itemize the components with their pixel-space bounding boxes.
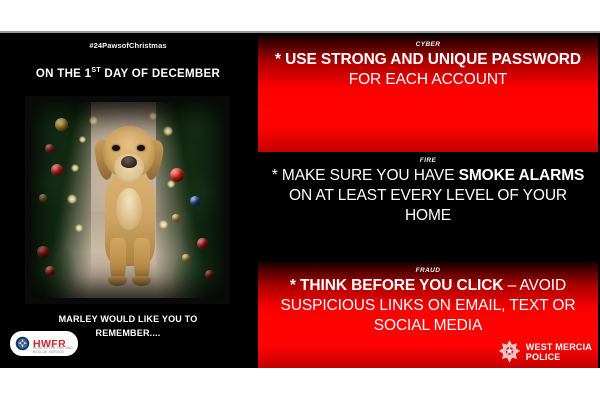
dog-chest [116,188,142,230]
tip-kicker-cyber: CYBER [262,36,594,48]
tip-fire-line1-bold: SMOKE ALARMS [459,167,585,184]
tip-cyber-line1: * USE STRONG AND UNIQUE PASSWORD [275,51,581,68]
tip-cyber-line2: FOR EACH ACCOUNT [349,71,508,88]
day-line-prefix: ON THE 1 [36,68,91,80]
tip-fire-line2: ON AT LEAST EVERY LEVEL OF YOUR HOME [289,187,567,224]
police-logo-line-2: POLICE [526,352,592,362]
tip-fraud-line1-b: – AVOID [503,277,566,294]
police-logo-text: WEST MERCIA POLICE [526,342,592,362]
fairy-light-icon [71,164,79,172]
left-panel: #24PawsofChristmas ON THE 1ST DAY OF DEC… [0,33,256,368]
police-crest-icon [497,339,522,364]
bauble-icon [51,164,63,176]
day-of-december-heading: ON THE 1ST DAY OF DECEMBER [0,67,256,80]
bauble-icon [197,238,208,249]
right-panel: CYBER * USE STRONG AND UNIQUE PASSWORD F… [256,33,600,368]
bauble-icon [39,194,47,202]
tip-body-fire: * MAKE SURE YOU HAVE SMOKE ALARMS ON AT … [262,164,594,232]
tip-card-cyber: CYBER * USE STRONG AND UNIQUE PASSWORD F… [258,36,598,152]
fairy-light-icon [75,224,83,232]
tip-card-fraud: FRAUD * THINK BEFORE YOU CLICK – AVOID S… [258,262,598,368]
poster-image: #24PawsofChristmas ON THE 1ST DAY OF DEC… [0,33,600,368]
west-mercia-police-logo: WEST MERCIA POLICE [497,339,592,364]
dog-figure [83,126,175,294]
bauble-icon [182,254,190,262]
campaign-hashtag: #24PawsofChristmas [0,41,256,50]
tip-body-cyber: * USE STRONG AND UNIQUE PASSWORD FOR EAC… [262,48,594,96]
police-logo-line-1: WEST MERCIA [526,342,592,352]
day-line-ordinal: ST [91,67,101,74]
dog-eye-right [137,145,145,151]
dog-paw-left [108,276,127,286]
closing-line-1: MARLEY WOULD LIKE YOU TO [0,312,256,326]
fairy-light-icon [89,116,98,125]
tip-fraud-line2: SUSPICIOUS LINKS ON EMAIL, TEXT OR [281,297,576,314]
bauble-icon [45,266,55,276]
hwfr-badge-icon [15,336,30,351]
tip-kicker-fire: FIRE [262,152,594,164]
dog-eye-left [112,145,120,151]
dog-nose [121,156,137,168]
fairy-light-icon [149,112,157,120]
hwfr-logo-subtitle: HEREFORD & WORCESTER FIRE AND RESCUE SER… [33,342,78,354]
tip-kicker-fraud: FRAUD [262,262,594,274]
tip-body-fraud: * THINK BEFORE YOU CLICK – AVOID SUSPICI… [262,274,594,342]
tip-card-fire: FIRE * MAKE SURE YOU HAVE SMOKE ALARMS O… [258,152,598,262]
dog-photo-scene [31,102,224,298]
bauble-icon [45,144,54,153]
bauble-icon [190,196,200,206]
day-line-suffix: DAY OF DECEMBER [101,68,220,80]
fairy-light-icon [67,194,77,204]
tip-fraud-line1-bold: * THINK BEFORE YOU CLICK [290,277,503,294]
tip-fire-line1-a: * MAKE SURE YOU HAVE [272,167,459,184]
tip-fraud-line3: SOCIAL MEDIA [374,317,482,334]
dog-paw-right [132,276,151,286]
bauble-icon [205,270,214,279]
bauble-icon [37,246,49,258]
bauble-icon [55,118,68,131]
dog-photo [25,96,230,304]
screenshot-canvas: #24PawsofChristmas ON THE 1ST DAY OF DEC… [0,0,600,410]
hwfr-logo: HWFR HEREFORD & WORCESTER FIRE AND RESCU… [10,331,78,356]
